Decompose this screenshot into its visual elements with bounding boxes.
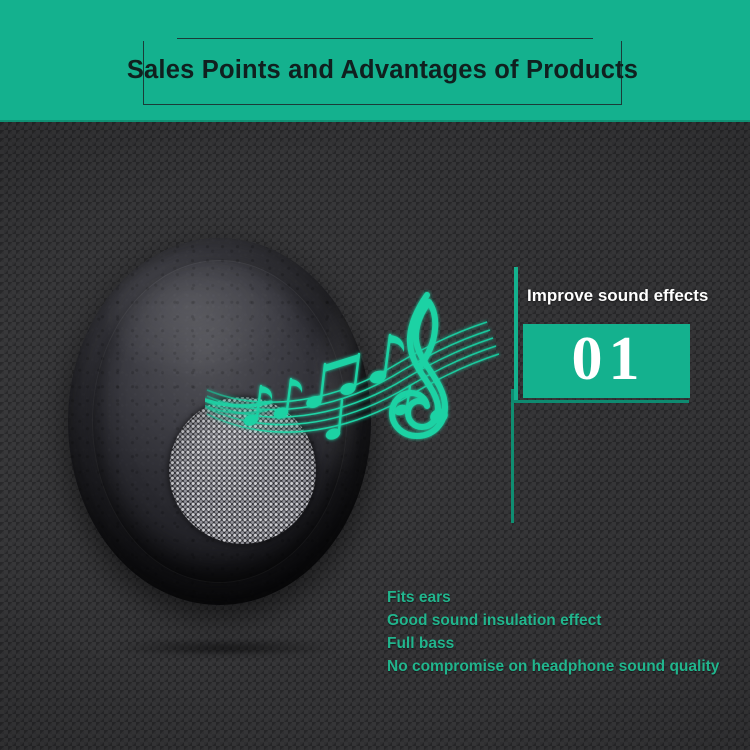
poster-body: Improve sound effects 01 Fits ears Good … (0, 122, 750, 750)
page-title: Sales Points and Advantages of Products (127, 58, 638, 84)
header-title-box: Sales Points and Advantages of Products (143, 38, 622, 105)
header-band: Sales Points and Advantages of Products (0, 0, 750, 122)
badge-accent-bar (514, 267, 518, 401)
badge-underline (511, 400, 689, 403)
speaker-grille (169, 397, 316, 544)
list-item: Fits ears (387, 586, 737, 609)
product-image (62, 232, 377, 607)
badge-number-box: 01 (523, 324, 690, 398)
badge-label: Improve sound effects (527, 287, 708, 304)
earcup-edge-highlight (310, 297, 358, 488)
badge-accent-bar-lower (511, 389, 514, 523)
grille-shading (169, 397, 316, 544)
earcup-highlight (110, 256, 304, 381)
product-feature-poster: Sales Points and Advantages of Products (0, 0, 750, 750)
product-drop-shadow (114, 640, 339, 656)
feature-badge: Improve sound effects 01 (511, 267, 696, 527)
badge-number: 01 (572, 328, 646, 390)
feature-list: Fits ears Good sound insulation effect F… (387, 586, 737, 678)
list-item: Full bass (387, 632, 737, 655)
list-item: No compromise on headphone sound quality (387, 655, 737, 678)
list-item: Good sound insulation effect (387, 609, 737, 632)
